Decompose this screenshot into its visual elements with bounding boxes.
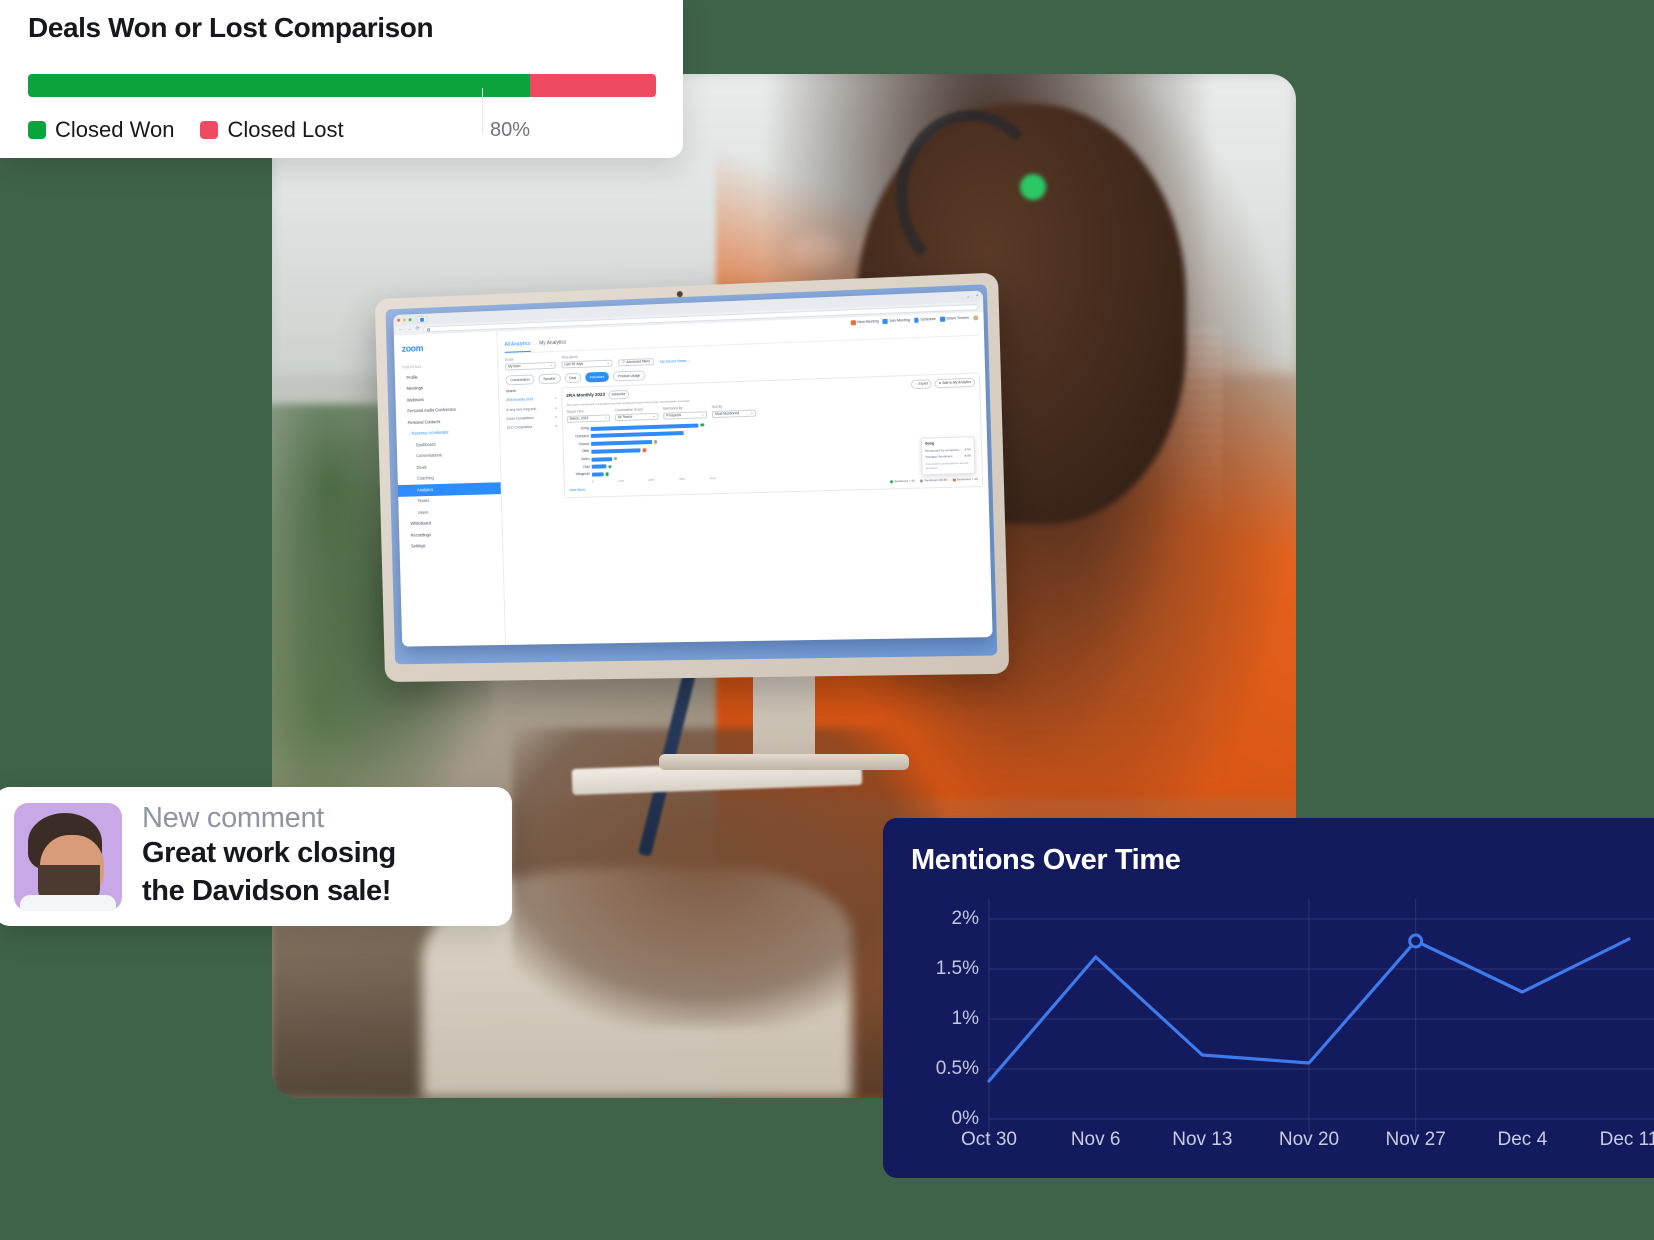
forward-icon[interactable]: → bbox=[407, 326, 412, 334]
schedule-icon bbox=[914, 318, 919, 323]
bar-label: Offer bbox=[568, 449, 590, 455]
chart-title: Mentions Over Time bbox=[911, 844, 1654, 877]
label: Share Screen bbox=[946, 316, 969, 322]
sidebar-item-label: Conversations bbox=[416, 453, 442, 459]
new-meeting-icon bbox=[851, 321, 856, 326]
report-title: ZRA Monthly 2023 bbox=[566, 392, 605, 400]
new-meeting-button[interactable]: New Meeting bbox=[851, 319, 879, 326]
pill-product-usage[interactable]: Product Usage bbox=[613, 370, 645, 381]
legend-label: Sentiment 40-60 bbox=[924, 478, 947, 483]
sidebar-item-label: Recordings bbox=[411, 532, 431, 537]
add-label: Add to My Analytics bbox=[942, 380, 971, 385]
chart-axes: 0%0.5%1%1.5%2%Oct 30Nov 6Nov 13Nov 20Nov… bbox=[989, 899, 1651, 1119]
chevron-down-icon: ⌄ bbox=[652, 414, 655, 419]
closed-won-label: Closed Won bbox=[55, 117, 174, 143]
sidebar: zoom PERSONAL ProfileMeetingsWebinarsPer… bbox=[394, 331, 506, 646]
tooltip-note: Out of 200 conversations across all team… bbox=[926, 460, 972, 470]
window-maximize-icon[interactable] bbox=[409, 318, 412, 321]
legend-closed-lost: Closed Lost bbox=[200, 117, 343, 143]
pill-deal[interactable]: Deal bbox=[564, 373, 581, 384]
pill-conversation[interactable]: Conversation bbox=[505, 375, 534, 386]
new-comment-card[interactable]: New comment Great work closing the David… bbox=[0, 787, 512, 926]
search-items: ZRA Monthly 2023×A very very long indi..… bbox=[506, 395, 558, 433]
chevron-down-icon: ⌄ bbox=[550, 363, 553, 368]
time-period-select[interactable]: Last 90 days ⌄ bbox=[561, 360, 612, 369]
saved-views-link[interactable]: My Saved Views ⌄ bbox=[660, 358, 690, 365]
sidebar-item-label: Whiteboard bbox=[410, 521, 431, 526]
advanced-filters-button[interactable]: ▽ Advanced filters bbox=[618, 358, 654, 366]
mentions-over-time-card: Mentions Over Time 0%0.5%1%1.5%2%Oct 30N… bbox=[883, 818, 1654, 1178]
scope-select[interactable]: My team ⌄ bbox=[505, 362, 556, 371]
lock-icon bbox=[427, 328, 430, 331]
avatar bbox=[14, 803, 122, 911]
field-value: All Teams bbox=[618, 415, 633, 421]
sentiment-legend: Sentiment > 60Sentiment 40-60Sentiment <… bbox=[890, 477, 978, 484]
monitor-screen: × + ← → ⟳ zoom PERSONAL ProfileMeetin bbox=[386, 284, 998, 664]
line-chart-svg bbox=[989, 899, 1629, 1119]
tab-close-icon[interactable]: × bbox=[967, 294, 970, 300]
closed-lost-swatch bbox=[200, 121, 218, 139]
subscribe-button[interactable]: Subscribe bbox=[608, 390, 629, 399]
view-more-link[interactable]: View More bbox=[569, 488, 586, 494]
avatar[interactable] bbox=[973, 315, 978, 320]
sentiment-dot-icon bbox=[608, 465, 611, 468]
legend-label: Sentiment > 60 bbox=[894, 479, 915, 484]
legend-item: Sentiment > 60 bbox=[890, 479, 915, 484]
sentiment-dot-icon bbox=[605, 472, 608, 475]
pill-speaker[interactable]: Speaker bbox=[538, 374, 560, 385]
headset-indicator-icon bbox=[1020, 174, 1046, 200]
tooltip-row1-value: 37% bbox=[964, 447, 971, 452]
x-axis-tick-label: Nov 20 bbox=[1279, 1129, 1339, 1151]
field-value: March, 2023 bbox=[570, 416, 589, 422]
legend-label: Sentiment < 40 bbox=[957, 477, 978, 482]
tooltip-row2-value-wrap: ● 85 bbox=[964, 454, 971, 459]
sidebar-item-settings[interactable]: Settings bbox=[399, 539, 502, 553]
saved-views-label: My Saved Views bbox=[660, 359, 686, 364]
tooltip-row2-label: Average Sentiment bbox=[925, 454, 952, 460]
y-axis-tick-label: 0% bbox=[952, 1108, 989, 1130]
advanced-filters-label: Advanced filters bbox=[626, 359, 650, 365]
window-minimize-icon[interactable] bbox=[403, 318, 406, 321]
conversation-scope-select[interactable]: All Teams⌄ bbox=[615, 413, 659, 421]
legend-dot-icon bbox=[890, 480, 893, 483]
search-item-label: ZRA Monthly 2023 bbox=[506, 398, 533, 404]
sidebar-item-label: Analytics bbox=[417, 487, 433, 492]
comment-text: New comment Great work closing the David… bbox=[142, 802, 396, 910]
export-label: Export bbox=[918, 382, 928, 386]
sentiment-dot-icon bbox=[643, 448, 646, 451]
legend-item: Sentiment 40-60 bbox=[920, 478, 947, 483]
x-axis-tick-label: Nov 27 bbox=[1386, 1129, 1446, 1151]
y-axis-tick-label: 1% bbox=[952, 1008, 989, 1030]
bar bbox=[592, 465, 607, 469]
zoom-app: zoom PERSONAL ProfileMeetingsWebinarsPer… bbox=[394, 312, 993, 647]
join-meeting-button[interactable]: Join Meeting bbox=[883, 318, 910, 325]
tooltip-row-mentioned: Mentioned by prospects 37% bbox=[925, 447, 971, 453]
conversation-scope-field: Conversation ScopeAll Teams⌄ bbox=[615, 407, 659, 421]
monitor-stand bbox=[753, 674, 815, 760]
zoom-favicon bbox=[420, 317, 424, 321]
sentiment-dot-icon bbox=[654, 440, 657, 443]
bar-rows: GongOutreachChorusOfferAvisoClariWingman bbox=[567, 414, 977, 478]
scope-value: My team bbox=[508, 364, 521, 370]
sidebar-item-label: Users bbox=[418, 510, 429, 515]
sidebar-item-label: Teams bbox=[417, 498, 429, 503]
competitor-bar-chart: GongOutreachChorusOfferAvisoClariWingman… bbox=[567, 414, 978, 485]
report-actions: ♡ Export ★ Add to My Analytics bbox=[911, 378, 975, 389]
search-item-label: A very very long indi... bbox=[506, 407, 538, 413]
mentioned-by-field: Mentioned ByProspects⌄ bbox=[663, 406, 707, 420]
bar-label: Outreach bbox=[567, 434, 589, 440]
sidebar-item-label: Personal Audio Conference bbox=[407, 407, 456, 414]
sidebar-item-label: Meetings bbox=[407, 386, 423, 391]
tooltip-row2-value: 85 bbox=[967, 454, 971, 458]
bar-label: Aviso bbox=[568, 457, 590, 463]
comment-eyebrow: New comment bbox=[142, 802, 396, 835]
y-axis-tick-label: 1.5% bbox=[936, 958, 989, 980]
sidebar-item-label: Dashboard bbox=[416, 442, 436, 448]
sentiment-dot-icon bbox=[614, 457, 617, 460]
sidebar-item-label: Deals bbox=[416, 464, 426, 469]
sidebar-item-label: Revenue Accelerator bbox=[411, 430, 448, 436]
tab-my-analytics[interactable]: My Analytics bbox=[539, 340, 566, 352]
closed-lost-segment bbox=[530, 74, 656, 97]
main-content: New MeetingJoin MeetingScheduleShare Scr… bbox=[497, 312, 992, 645]
x-axis-tick-label: Oct 30 bbox=[961, 1129, 1017, 1151]
closed-won-swatch bbox=[28, 121, 46, 139]
deals-percent-value: 80% bbox=[490, 119, 530, 142]
legend-item: Sentiment < 40 bbox=[952, 477, 977, 482]
report-time-select[interactable]: March, 2023⌄ bbox=[567, 415, 610, 423]
sort-by-select[interactable]: Most Mentioned⌄ bbox=[712, 410, 756, 418]
field-value: Prospects bbox=[666, 413, 681, 419]
bar-label: Gong bbox=[567, 426, 589, 432]
search-item[interactable]: ZCC Competitors× bbox=[507, 422, 558, 433]
chevron-down-icon: ⌄ bbox=[604, 416, 607, 421]
avatar-body bbox=[20, 895, 116, 911]
new-tab-button[interactable]: + bbox=[976, 293, 979, 301]
legend-dot-icon bbox=[952, 478, 955, 481]
chevron-down-icon: ⌄ bbox=[607, 361, 610, 366]
y-axis-tick-label: 0.5% bbox=[936, 1058, 989, 1080]
reload-icon[interactable]: ⟳ bbox=[416, 326, 420, 334]
bar bbox=[591, 448, 640, 453]
tooltip-row-sentiment: Average Sentiment ● 85 bbox=[925, 454, 971, 460]
label: New Meeting bbox=[857, 319, 879, 325]
chart-plot-area: 0%0.5%1%1.5%2%Oct 30Nov 6Nov 13Nov 20Nov… bbox=[911, 899, 1651, 1149]
legend-dot-icon bbox=[920, 479, 923, 482]
bar bbox=[591, 431, 684, 438]
comment-line-2: the Davidson sale! bbox=[142, 873, 396, 911]
x-axis-tick-label: Nov 13 bbox=[1172, 1129, 1232, 1151]
bar bbox=[591, 423, 699, 430]
search-item-label: Zoom Competitors bbox=[506, 416, 533, 422]
search-panel: Search ZRA Monthly 2023×A very very long… bbox=[506, 388, 560, 500]
deals-legend: Closed Won Closed Lost 80% bbox=[28, 117, 655, 143]
page-title: Deals Won or Lost Comparison bbox=[28, 12, 655, 44]
sidebar-item-label: Personal Contacts bbox=[408, 419, 441, 425]
browser-window: × + ← → ⟳ zoom PERSONAL ProfileMeetin bbox=[393, 291, 992, 647]
monitor-base bbox=[659, 754, 909, 770]
bar bbox=[591, 457, 611, 462]
close-icon[interactable]: × bbox=[555, 415, 557, 420]
filter-icon: ▽ bbox=[622, 360, 625, 365]
label: Schedule bbox=[920, 317, 936, 323]
bar-label: Wingman bbox=[568, 472, 590, 478]
analytics-body: Search ZRA Monthly 2023×A very very long… bbox=[506, 373, 983, 500]
x-axis-tick-label: Dec 4 bbox=[1498, 1129, 1548, 1151]
bar-chart-axis: 010%20%30%40% bbox=[592, 476, 716, 484]
mentioned-by-select[interactable]: Prospects⌄ bbox=[663, 411, 707, 419]
browser-tab[interactable] bbox=[417, 316, 427, 323]
x-axis-tick-label: Dec 11 bbox=[1600, 1129, 1654, 1151]
close-icon[interactable]: × bbox=[555, 406, 557, 411]
label: Join Meeting bbox=[889, 318, 910, 324]
sentiment-dot-icon bbox=[700, 423, 703, 427]
bar-label: Chorus bbox=[568, 442, 590, 448]
sort-by-field: Sort ByMost Mentioned⌄ bbox=[712, 404, 756, 418]
tooltip-row1-label: Mentioned by prospects bbox=[925, 448, 959, 454]
bar-tooltip: Gong Mentioned by prospects 37% Average … bbox=[921, 436, 976, 475]
x-axis-tick-label: Nov 6 bbox=[1071, 1129, 1121, 1151]
legend-closed-won: Closed Won bbox=[28, 117, 174, 143]
axis-tick: 40% bbox=[710, 476, 716, 481]
page-root: × + ← → ⟳ zoom PERSONAL ProfileMeetin bbox=[0, 0, 1654, 1240]
axis-tick: 0 bbox=[592, 480, 594, 485]
sidebar-item-label: Settings bbox=[411, 543, 426, 548]
chevron-down-icon: ⌄ bbox=[701, 412, 704, 417]
share-screen-button[interactable]: Share Screen bbox=[940, 316, 969, 323]
bar-label: Clari bbox=[568, 465, 590, 471]
window-close-icon[interactable] bbox=[397, 319, 400, 322]
back-icon[interactable]: ← bbox=[398, 327, 403, 335]
tab-all-analytics[interactable]: All Analytics bbox=[504, 341, 530, 353]
report-time-field: Report TimeMarch, 2023⌄ bbox=[567, 409, 610, 423]
sidebar-item-label: Profile bbox=[406, 375, 417, 380]
closed-won-segment bbox=[28, 74, 530, 97]
y-axis-tick-label: 2% bbox=[952, 908, 989, 930]
close-icon[interactable]: × bbox=[555, 424, 557, 429]
deals-comparison-card: Deals Won or Lost Comparison Closed Won … bbox=[0, 0, 683, 158]
export-button[interactable]: ♡ Export bbox=[911, 380, 932, 389]
chevron-down-icon: ⌄ bbox=[750, 411, 753, 416]
share-screen-icon bbox=[940, 317, 945, 322]
comment-line-1: Great work closing bbox=[142, 835, 396, 873]
report-card: ZRA Monthly 2023 Subscribe ♡ Export ★ Ad… bbox=[561, 373, 983, 499]
axis-tick: 30% bbox=[679, 477, 685, 482]
scope-field: Scope My team ⌄ bbox=[505, 356, 556, 371]
desktop-monitor: × + ← → ⟳ zoom PERSONAL ProfileMeetin bbox=[375, 273, 1010, 683]
add-to-my-analytics-button[interactable]: ★ Add to My Analytics bbox=[935, 378, 975, 388]
field-value: Most Mentioned bbox=[715, 411, 739, 417]
time-period-field: Time period Last 90 days ⌄ bbox=[561, 354, 612, 369]
close-icon[interactable]: × bbox=[555, 397, 557, 402]
sidebar-items: ProfileMeetingsWebinarsPersonal Audio Co… bbox=[395, 369, 503, 553]
bar bbox=[592, 472, 604, 476]
sidebar-item-label: Webinars bbox=[407, 397, 424, 402]
pill-indicators[interactable]: Indicators bbox=[585, 372, 610, 383]
join-meeting-icon bbox=[883, 319, 888, 324]
sidebar-item-label: Coaching bbox=[417, 476, 434, 481]
data-point-marker[interactable] bbox=[1410, 935, 1422, 947]
deals-progress-bar bbox=[28, 74, 656, 97]
tooltip-title: Gong bbox=[925, 440, 971, 447]
schedule-button[interactable]: Schedule bbox=[914, 317, 936, 323]
search-item-label: ZCC Competitors bbox=[507, 425, 533, 431]
search-label: Search bbox=[506, 388, 557, 395]
axis-tick: 20% bbox=[648, 478, 654, 483]
bar bbox=[591, 440, 652, 446]
axis-tick: 10% bbox=[618, 479, 624, 484]
time-period-value: Last 90 days bbox=[564, 362, 583, 368]
closed-lost-label: Closed Lost bbox=[227, 117, 343, 143]
